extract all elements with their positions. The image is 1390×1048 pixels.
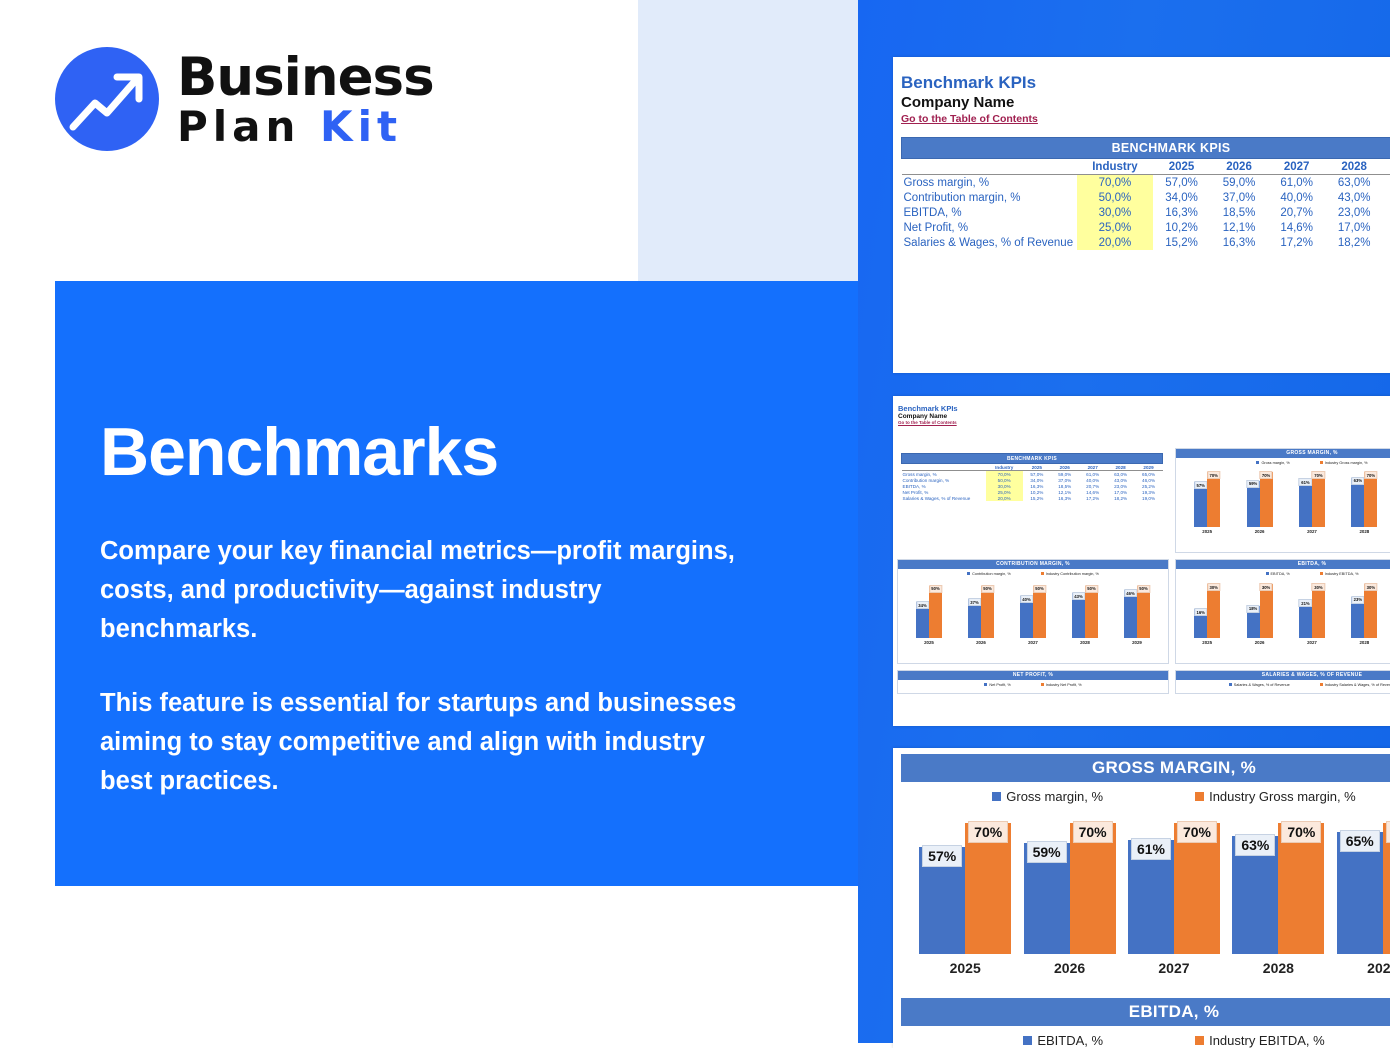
bar-group: 46%50%: [1124, 576, 1150, 638]
bar-value-label: 37%: [968, 598, 981, 606]
bar-company: 59%: [1247, 481, 1260, 527]
table-cell: 25,2%: [1383, 205, 1390, 220]
bar-group: 18%30%: [1247, 576, 1273, 638]
x-axis-tick-label: 2026: [1054, 960, 1085, 976]
table-row-label: EBITDA, %: [902, 205, 1078, 220]
legend-item: Industry Gross margin, %: [1195, 789, 1356, 804]
table-cell-industry: 30,0%: [1077, 205, 1153, 220]
bar-group: 65%70%: [1337, 804, 1390, 954]
chart-title: SALARIES & WAGES, % OF REVENUE: [1176, 671, 1390, 680]
spreadsheet-preview-charts[interactable]: GROSS MARGIN, %Gross margin, %Industry G…: [893, 748, 1390, 1048]
bar-company: 46%: [1124, 590, 1137, 638]
x-axis-tick-label: 2025: [950, 960, 981, 976]
table-cell: 17,2%: [1079, 495, 1107, 501]
bar-value-label: 50%: [1085, 585, 1098, 593]
bar-group: 23%30%: [1351, 576, 1377, 638]
table-cell: 34,0%: [1153, 190, 1211, 205]
bar-industry: 70%: [1260, 472, 1273, 526]
table-cell: 43,0%: [1325, 190, 1383, 205]
bar-industry: 30%: [1207, 584, 1220, 637]
chart-ebitda: EBITDA, %EBITDA, %Industry EBITDA, %: [901, 998, 1390, 1048]
bar-value-label: 61%: [1131, 838, 1171, 860]
bar-company: 43%: [1072, 593, 1085, 637]
legend-label: Industry EBITDA, %: [1209, 1033, 1325, 1048]
bar-group: 16%30%: [1194, 576, 1220, 638]
bar-value-label: 63%: [1351, 477, 1364, 485]
x-axis-tick-label: 2025: [1202, 640, 1212, 645]
chart-x-axis: 20252026202720282029: [1176, 640, 1390, 645]
table-cell: 65,0%: [1383, 175, 1390, 191]
x-axis-tick-label: 2027: [1307, 640, 1317, 645]
bar-company: 16%: [1194, 609, 1207, 637]
table-col-header: [902, 464, 986, 471]
table-cell: 46,0%: [1383, 190, 1390, 205]
chart-plot-area: 57%70%59%70%61%70%63%70%65%70%: [901, 804, 1390, 954]
table-cell-industry: 25,0%: [1077, 220, 1153, 235]
table-cell: 57,0%: [1153, 175, 1211, 191]
table-row-label: Salaries & Wages, % of Revenue: [902, 235, 1078, 250]
chart-title: EBITDA, %: [1176, 560, 1390, 569]
mini-chart-contribution-margin: CONTRIBUTION MARGIN, %Contribution margi…: [897, 559, 1169, 664]
table-header-row: Industry20252026202720282029: [902, 159, 1390, 175]
bar-company: 57%: [919, 847, 965, 954]
chart-title: CONTRIBUTION MARGIN, %: [898, 560, 1168, 569]
table-cell: 10,2%: [1153, 220, 1211, 235]
bar-company: 21%: [1299, 600, 1312, 637]
table-row: EBITDA, %30,0%16,3%18,5%20,7%23,0%25,2%: [902, 205, 1390, 220]
chart-legend: Gross margin, %Industry Gross margin, %: [901, 789, 1390, 804]
bar-value-label: 70%: [1364, 471, 1377, 479]
bar-value-label: 70%: [1281, 821, 1321, 843]
brand-word-plan: Plan: [177, 102, 300, 151]
legend-item: Industry Salaries & Wages, % of Revenue: [1320, 683, 1390, 687]
bar-value-label: 65%: [1340, 830, 1380, 852]
chart-title: GROSS MARGIN, %: [1176, 449, 1390, 458]
bar-group: 21%30%: [1299, 576, 1325, 638]
x-axis-tick-label: 2027: [1028, 640, 1038, 645]
bar-group: 61%70%: [1299, 465, 1325, 527]
table-row: Gross margin, %70,0%57,0%59,0%61,0%63,0%…: [902, 175, 1390, 191]
bar-value-label: 34%: [916, 601, 929, 609]
table-cell: 19,0%: [1135, 495, 1163, 501]
sheet-header-small: Benchmark KPIs Company Name Go to the Ta…: [893, 396, 1390, 425]
table-col-header: 2027: [1268, 159, 1326, 175]
x-axis-tick-label: 2025: [1202, 529, 1212, 534]
growth-arrow-icon: [55, 47, 159, 151]
legend-item: Net Profit, %: [984, 683, 1010, 687]
x-axis-tick-label: 2026: [1255, 529, 1265, 534]
chart-x-axis: 20252026202720282029: [1176, 529, 1390, 534]
table-col-header: 2029: [1383, 159, 1390, 175]
table-col-header: Industry: [986, 464, 1023, 471]
table-col-header: 2029: [1135, 464, 1163, 471]
brand-name-secondary: Plan Kit: [177, 106, 434, 148]
table-cell: 16,3%: [1051, 495, 1079, 501]
bar-industry: 50%: [1137, 586, 1150, 638]
table-cell-industry: 20,0%: [986, 495, 1023, 501]
bar-group: 40%50%: [1020, 576, 1046, 638]
bar-industry: 70%: [965, 823, 1011, 954]
bar-group: 59%70%: [1247, 465, 1273, 527]
legend-label: Salaries & Wages, % of Revenue: [1234, 683, 1290, 687]
table-row-label: Salaries & Wages, % of Revenue: [902, 495, 986, 501]
table-cell: 18,5%: [1210, 205, 1268, 220]
bar-group: 37%50%: [968, 576, 994, 638]
legend-item: Industry Net Profit, %: [1041, 683, 1082, 687]
table-cell: 19,0%: [1383, 235, 1390, 250]
spreadsheet-preview-dashboard[interactable]: Benchmark KPIs Company Name Go to the Ta…: [893, 396, 1390, 726]
table-cell: 17,2%: [1268, 235, 1326, 250]
table-col-header: 2026: [1210, 159, 1268, 175]
legend-label: EBITDA, %: [1037, 1033, 1103, 1048]
x-axis-tick-label: 2028: [1359, 640, 1369, 645]
bar-industry: 70%: [1207, 472, 1220, 526]
x-axis-tick-label: 2027: [1307, 529, 1317, 534]
x-axis-tick-label: 2028: [1080, 640, 1090, 645]
spreadsheet-preview-table[interactable]: Benchmark KPIs Company Name Go to the Ta…: [893, 57, 1390, 373]
table-cell: 12,1%: [1210, 220, 1268, 235]
table-row: Net Profit, %25,0%10,2%12,1%14,6%17,0%19…: [902, 220, 1390, 235]
bar-value-label: 16%: [1194, 608, 1207, 616]
legend-swatch-icon: [1041, 683, 1044, 686]
bar-value-label: 23%: [1351, 596, 1364, 604]
bar-group: 57%70%: [919, 804, 1011, 954]
x-axis-tick-label: 2029: [1367, 960, 1390, 976]
chart-x-axis: 20252026202720282029: [898, 640, 1168, 645]
chart-title: NET PROFIT, %: [898, 671, 1168, 680]
table-cell-industry: 50,0%: [1077, 190, 1153, 205]
page-title: Benchmarks: [100, 418, 740, 486]
table-row: Contribution margin, %50,0%34,0%37,0%40,…: [902, 190, 1390, 205]
legend-swatch-icon: [1023, 1036, 1032, 1045]
bar-value-label: 46%: [1124, 589, 1137, 597]
table-of-contents-link[interactable]: Go to the Table of Contents: [901, 113, 1390, 125]
bar-company: 18%: [1247, 606, 1260, 638]
bar-industry: 50%: [1085, 586, 1098, 638]
chart-plot-area: 57%70%59%70%61%70%63%70%65%70%: [1176, 465, 1390, 527]
bar-value-label: 50%: [1137, 585, 1150, 593]
table-col-header: 2025: [1153, 159, 1211, 175]
legend-item: Gross margin, %: [992, 789, 1103, 804]
sheet-company-small: Company Name: [898, 413, 1390, 420]
sheet-title: Benchmark KPIs: [901, 73, 1390, 93]
bar-value-label: 70%: [968, 821, 1008, 843]
table-band-row: BENCHMARK KPIS: [902, 454, 1163, 464]
bar-value-label: 70%: [1207, 471, 1220, 479]
hero-paragraph-2: This feature is essential for startups a…: [100, 684, 740, 800]
table-of-contents-link-small[interactable]: Go to the Table of Contents: [898, 420, 1390, 425]
bar-value-label: 30%: [1312, 583, 1325, 591]
table-row: Salaries & Wages, % of Revenue20,0%15,2%…: [902, 235, 1390, 250]
bar-value-label: 43%: [1072, 592, 1085, 600]
x-axis-tick-label: 2026: [976, 640, 986, 645]
benchmark-kpi-table: BENCHMARK KPISIndustry202520262027202820…: [901, 137, 1390, 250]
table-cell: 15,2%: [1023, 495, 1051, 501]
chart-plot-area: 16%30%18%30%21%30%23%30%25%30%: [1176, 576, 1390, 638]
x-axis-tick-label: 2029: [1132, 640, 1142, 645]
bar-company: 59%: [1024, 843, 1070, 954]
bar-value-label: 61%: [1299, 478, 1312, 486]
table-cell: 16,3%: [1210, 235, 1268, 250]
bar-industry: 30%: [1312, 584, 1325, 637]
sheet-company: Company Name: [901, 94, 1390, 111]
bar-value-label: 70%: [1177, 821, 1217, 843]
mini-chart-net-profit: NET PROFIT, %Net Profit, %Industry Net P…: [897, 670, 1169, 694]
brand-word-kit: Kit: [320, 102, 402, 151]
legend-label: Industry Net Profit, %: [1046, 683, 1082, 687]
x-axis-tick-label: 2026: [1255, 640, 1265, 645]
bar-industry: 70%: [1364, 472, 1377, 526]
legend-label: Industry Gross margin, %: [1209, 789, 1356, 804]
legend-label: Gross margin, %: [1006, 789, 1103, 804]
bar-group: 63%70%: [1351, 465, 1377, 527]
table-cell: 18,2%: [1325, 235, 1383, 250]
table-row: Salaries & Wages, % of Revenue20,0%15,2%…: [902, 495, 1163, 501]
table-row-label: Contribution margin, %: [902, 190, 1078, 205]
bar-value-label: 18%: [1246, 605, 1259, 613]
bar-value-label: 50%: [981, 585, 994, 593]
legend-swatch-icon: [1195, 792, 1204, 801]
bar-group: 43%50%: [1072, 576, 1098, 638]
bar-value-label: 30%: [1364, 583, 1377, 591]
bar-value-label: 70%: [1386, 821, 1390, 843]
table-cell-industry: 20,0%: [1077, 235, 1153, 250]
benchmark-kpi-table-small: BENCHMARK KPISIndustry202520262027202820…: [901, 453, 1163, 501]
table-cell: 15,2%: [1153, 235, 1211, 250]
legend-label: Net Profit, %: [989, 683, 1010, 687]
bar-company: 37%: [968, 599, 981, 637]
brand-name-primary: Business: [177, 51, 434, 104]
table-cell: 14,6%: [1268, 220, 1326, 235]
bar-company: 63%: [1232, 836, 1278, 954]
table-col-header: 2027: [1079, 464, 1107, 471]
table-col-header: 2028: [1107, 464, 1135, 471]
mini-chart-salaries-wages: SALARIES & WAGES, % OF REVENUESalaries &…: [1175, 670, 1390, 694]
table-col-header: 2026: [1051, 464, 1079, 471]
table-band-label: BENCHMARK KPIS: [902, 454, 1163, 464]
chart-plot-area: 34%50%37%50%40%50%43%50%46%50%: [898, 576, 1168, 638]
legend-swatch-icon: [1195, 1036, 1204, 1045]
chart-x-axis: 20252026202720282029: [901, 960, 1390, 976]
x-axis-tick-label: 2027: [1158, 960, 1189, 976]
legend-swatch-icon: [1320, 683, 1323, 686]
bar-industry: 70%: [1383, 823, 1390, 954]
bar-company: 23%: [1351, 597, 1364, 638]
bar-value-label: 59%: [1246, 480, 1259, 488]
table-cell: 37,0%: [1210, 190, 1268, 205]
bar-value-label: 50%: [1033, 585, 1046, 593]
bar-group: 61%70%: [1128, 804, 1220, 954]
table-cell: 17,0%: [1325, 220, 1383, 235]
table-cell: 61,0%: [1268, 175, 1326, 191]
bar-value-label: 59%: [1027, 841, 1067, 863]
x-axis-tick-label: 2025: [924, 640, 934, 645]
bar-company: 34%: [916, 602, 929, 637]
bar-value-label: 40%: [1020, 595, 1033, 603]
table-header-row: Industry20252026202720282029: [902, 464, 1163, 471]
bar-company: 61%: [1299, 479, 1312, 526]
legend-item: EBITDA, %: [1023, 1033, 1103, 1048]
bar-company: 40%: [1020, 596, 1033, 637]
bar-group: 34%50%: [916, 576, 942, 638]
bar-value-label: 70%: [1259, 471, 1272, 479]
legend-swatch-icon: [992, 792, 1001, 801]
bar-industry: 70%: [1070, 823, 1116, 954]
kpi-table-body-small: BENCHMARK KPISIndustry202520262027202820…: [902, 454, 1163, 502]
bar-group: 57%70%: [1194, 465, 1220, 527]
bar-industry: 50%: [981, 586, 994, 638]
bar-value-label: 30%: [1259, 583, 1272, 591]
bar-industry: 50%: [929, 586, 942, 638]
table-cell: 40,0%: [1268, 190, 1326, 205]
bar-industry: 30%: [1364, 584, 1377, 637]
bar-group: 63%70%: [1232, 804, 1324, 954]
bar-industry: 70%: [1312, 472, 1325, 526]
legend-item: Salaries & Wages, % of Revenue: [1229, 683, 1290, 687]
bar-value-label: 70%: [1073, 821, 1113, 843]
bar-industry: 50%: [1033, 586, 1046, 638]
bar-value-label: 50%: [929, 585, 942, 593]
legend-swatch-icon: [1229, 683, 1232, 686]
table-band-label: BENCHMARK KPIS: [902, 138, 1390, 159]
chart-legend: Salaries & Wages, % of RevenueIndustry S…: [1176, 683, 1390, 687]
hero-paragraph-1: Compare your key financial metrics—profi…: [100, 532, 740, 648]
table-cell: 63,0%: [1325, 175, 1383, 191]
bar-value-label: 30%: [1207, 583, 1220, 591]
bar-industry: 70%: [1278, 823, 1324, 954]
table-cell: 19,3%: [1383, 220, 1390, 235]
x-axis-tick-label: 2028: [1359, 529, 1369, 534]
mini-chart-gross-margin: GROSS MARGIN, %Gross margin, %Industry G…: [1175, 448, 1390, 553]
mini-chart-ebitda: EBITDA, %EBITDA, %Industry EBITDA, %16%3…: [1175, 559, 1390, 664]
legend-swatch-icon: [984, 683, 987, 686]
chart-legend: Net Profit, %Industry Net Profit, %: [898, 683, 1168, 687]
bar-value-label: 57%: [922, 845, 962, 867]
bar-industry: 70%: [1174, 823, 1220, 954]
sheet-title-small: Benchmark KPIs: [898, 404, 1390, 413]
kpi-table-body-big: BENCHMARK KPISIndustry202520262027202820…: [902, 138, 1390, 251]
bar-company: 57%: [1194, 482, 1207, 526]
chart-gross-margin: GROSS MARGIN, %Gross margin, %Industry G…: [901, 754, 1390, 998]
chart-legend: EBITDA, %Industry EBITDA, %: [901, 1033, 1390, 1048]
table-cell: 16,3%: [1153, 205, 1211, 220]
sheet-header: Benchmark KPIs Company Name Go to the Ta…: [893, 57, 1390, 125]
chart-title: GROSS MARGIN, %: [901, 754, 1390, 782]
bar-value-label: 21%: [1299, 599, 1312, 607]
table-col-header: Industry: [1077, 159, 1153, 175]
bar-industry: 30%: [1260, 584, 1273, 637]
x-axis-tick-label: 2028: [1263, 960, 1294, 976]
bar-value-label: 70%: [1312, 471, 1325, 479]
table-row-label: Gross margin, %: [902, 175, 1078, 191]
table-col-header: 2025: [1023, 464, 1051, 471]
bar-company: 61%: [1128, 840, 1174, 954]
table-col-header: 2028: [1325, 159, 1383, 175]
hero-content: Benchmarks Compare your key financial me…: [100, 418, 740, 801]
bar-company: 65%: [1337, 832, 1383, 954]
table-cell: 23,0%: [1325, 205, 1383, 220]
table-band-row: BENCHMARK KPIS: [902, 138, 1390, 159]
legend-item: Industry EBITDA, %: [1195, 1033, 1325, 1048]
legend-label: Industry Salaries & Wages, % of Revenue: [1325, 683, 1390, 687]
bar-company: 63%: [1351, 478, 1364, 527]
bar-value-label: 57%: [1194, 481, 1207, 489]
table-row: Contribution margin, %50,0%34,0%37,0%40,…: [902, 477, 1163, 483]
table-cell-industry: 70,0%: [1077, 175, 1153, 191]
table-col-header: [902, 159, 1078, 175]
table-cell: 18,2%: [1107, 495, 1135, 501]
table-row-label: Net Profit, %: [902, 220, 1078, 235]
brand-logo[interactable]: Business Plan Kit: [55, 47, 434, 151]
table-cell: 59,0%: [1210, 175, 1268, 191]
chart-title: EBITDA, %: [901, 998, 1390, 1026]
bar-value-label: 63%: [1235, 834, 1275, 856]
table-cell: 20,7%: [1268, 205, 1326, 220]
bar-group: 59%70%: [1024, 804, 1116, 954]
